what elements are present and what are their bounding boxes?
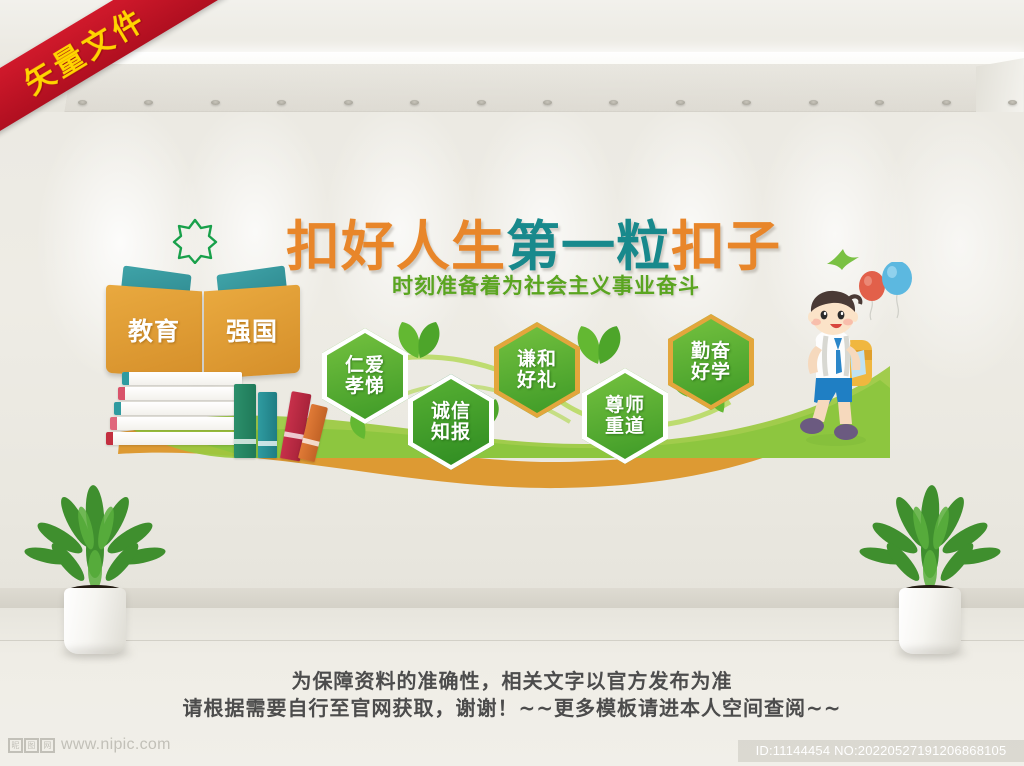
ceiling-spotlight xyxy=(410,100,419,105)
ceiling-spotlight xyxy=(277,100,286,105)
book-emblem: 教育 强国 xyxy=(100,220,310,450)
star-outline-icon xyxy=(172,218,218,264)
ceiling-spotlight xyxy=(942,100,951,105)
book-text-right: 强国 xyxy=(204,312,300,348)
ceiling-spotlight xyxy=(676,100,685,105)
ceiling-spotlight xyxy=(78,100,87,105)
footer-note: 为保障资料的准确性，相关文字以官方发布为准 请根据需要自行至官网获取，谢谢！~~… xyxy=(0,668,1024,722)
stacked-book xyxy=(118,387,246,400)
ceiling-spotlights xyxy=(78,100,1018,108)
shoe xyxy=(800,418,824,434)
image-id-bar: ID:11144454 NO:20220527191206868105 xyxy=(738,740,1024,762)
ceiling-spotlight xyxy=(809,100,818,105)
ceiling-spotlight xyxy=(477,100,486,105)
logo-char: 图 xyxy=(24,738,39,753)
hex-label: 谦和好礼 xyxy=(517,349,557,391)
eye xyxy=(838,311,845,320)
hex-label: 诚信知报 xyxy=(431,401,471,443)
ceiling-spotlight xyxy=(144,100,153,105)
logo-char: 昵 xyxy=(8,738,23,753)
shoe xyxy=(834,424,858,440)
ceiling-spotlight xyxy=(1008,100,1017,105)
plant-pot xyxy=(64,588,126,654)
ceiling-spotlight xyxy=(543,100,552,105)
ceiling-spotlight xyxy=(742,100,751,105)
standing-book xyxy=(234,384,256,458)
ceiling-spotlight xyxy=(875,100,884,105)
ceiling-spotlight xyxy=(344,100,353,105)
title-segment-2: 第一粒 xyxy=(506,215,671,278)
potted-plant-right xyxy=(855,470,1005,655)
stacked-book xyxy=(122,372,242,385)
wall-artwork: 教育 强国 xyxy=(90,196,940,496)
stacked-book xyxy=(106,432,248,445)
site-watermark: 昵 图 网 www.nipic.com xyxy=(8,736,171,754)
stacked-book xyxy=(114,402,246,415)
watermark-url: www.nipic.com xyxy=(61,736,171,754)
hex-label: 仁爱孝悌 xyxy=(345,355,385,397)
blush xyxy=(843,319,853,326)
plant-pot xyxy=(899,588,961,654)
eye xyxy=(821,311,828,320)
hex-label: 勤奋好学 xyxy=(691,341,731,383)
poster-canvas: 教育 强国 xyxy=(0,0,1024,766)
stacked-book xyxy=(110,417,246,430)
hex-label: 尊师重道 xyxy=(605,395,645,437)
pot-shadow xyxy=(60,648,132,658)
pot-shadow xyxy=(895,648,967,658)
footer-line-2: 请根据需要自行至官网获取，谢谢！~~更多模板请进本人空间查阅~~ xyxy=(0,694,1024,722)
potted-plant-left xyxy=(20,470,170,655)
footer-line-1: 为保障资料的准确性，相关文字以官方发布为准 xyxy=(0,668,1024,694)
page-subtitle: 时刻准备着为社会主义事业奋斗 xyxy=(286,270,806,300)
book-stack xyxy=(122,372,312,458)
book-text-left: 教育 xyxy=(106,312,202,348)
ceiling-spotlight xyxy=(211,100,220,105)
nipic-logo-icon: 昵 图 网 xyxy=(8,738,55,753)
ceiling-spotlight xyxy=(609,100,618,105)
standing-book xyxy=(258,392,277,458)
student-boy-illustration xyxy=(780,288,890,448)
title-segment-1: 扣好人生 xyxy=(286,215,506,278)
title-segment-3: 扣子 xyxy=(671,215,781,278)
logo-char: 网 xyxy=(40,738,55,753)
